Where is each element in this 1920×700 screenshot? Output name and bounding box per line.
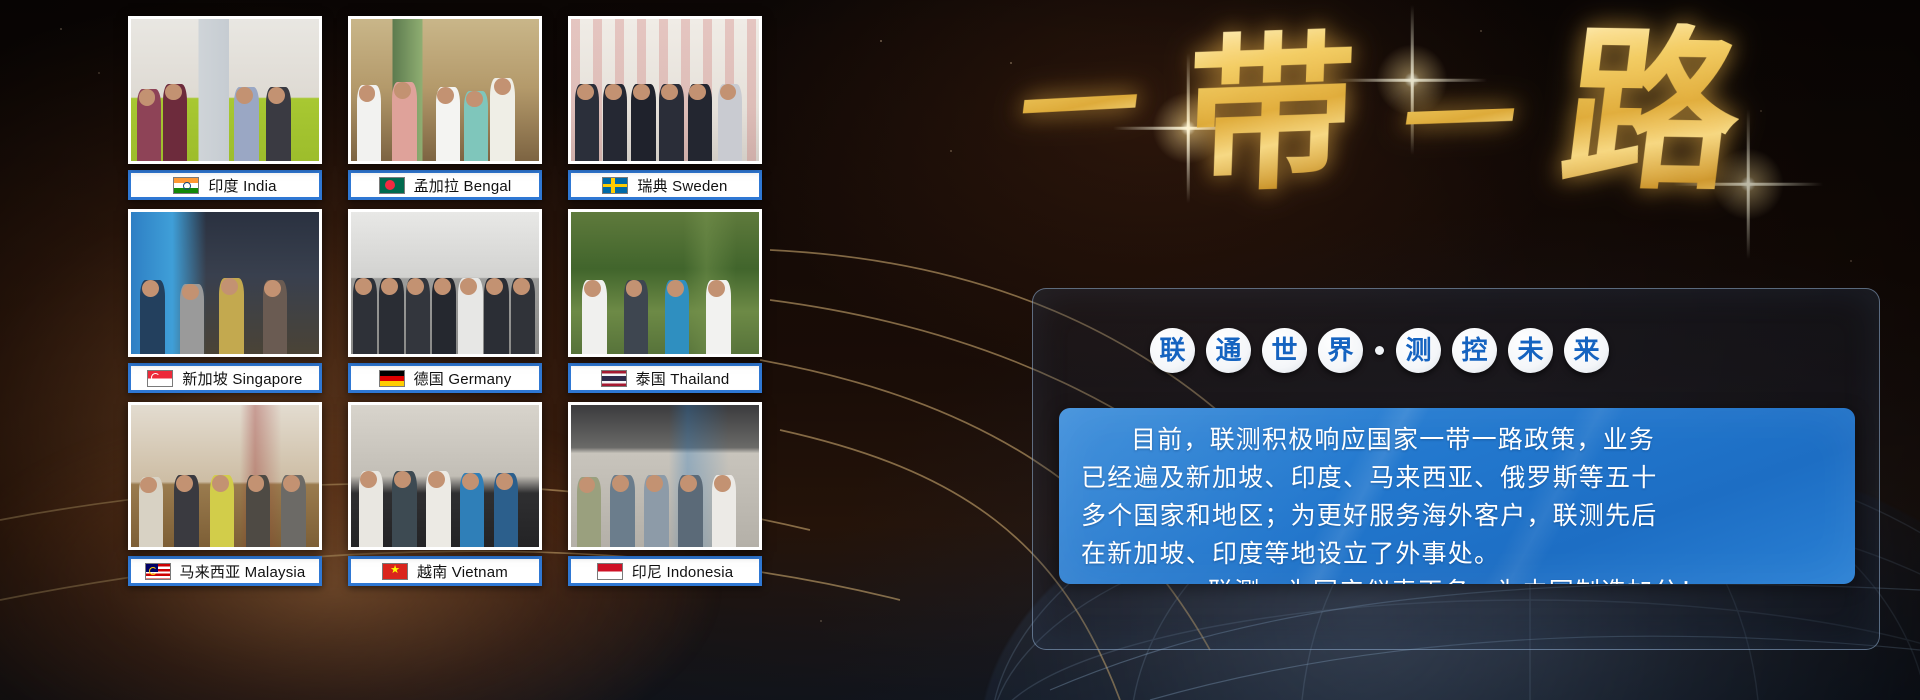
headline-char-2: 带 [1184,27,1358,201]
flag-germany-icon [379,370,405,387]
flag-thailand-icon [601,370,627,387]
gallery-card-sweden[interactable]: 瑞典 Sweden [568,16,762,202]
photo-singapore [128,209,322,357]
description-line-4: 在新加坡、印度等地设立了外事处。 [1081,535,1833,573]
caption-singapore: 新加坡 Singapore [128,363,322,393]
description-line-3: 多个国家和地区；为更好服务海外客户，联测先后 [1081,497,1833,535]
caption-thailand: 泰国 Thailand [568,363,762,393]
photo-india [128,16,322,164]
gallery-card-vietnam[interactable]: 越南 Vietnam [348,402,542,588]
slogan-char-2: 通 [1206,328,1251,373]
gallery-card-malaysia[interactable]: 马来西亚 Malaysia [128,402,322,588]
gallery-card-germany[interactable]: 德国 Germany [348,209,542,395]
gallery-card-india[interactable]: 印度 India [128,16,322,202]
slogan-badge-row: 联 通 世 界 测 控 未 来 [1150,328,1609,373]
caption-label: 印度 India [208,175,276,196]
caption-label: 印尼 Indonesia [632,561,734,582]
gallery-card-singapore[interactable]: 新加坡 Singapore [128,209,322,395]
flag-india-icon [173,177,199,194]
headline-char-1: 一 [1012,46,1146,170]
headline-char-3: 一 [1395,64,1523,180]
caption-bengal: 孟加拉 Bengal [348,170,542,200]
caption-malaysia: 马来西亚 Malaysia [128,556,322,586]
caption-germany: 德国 Germany [348,363,542,393]
caption-vietnam: 越南 Vietnam [348,556,542,586]
photo-germany [348,209,542,357]
gallery-card-indonesia[interactable]: 印尼 Indonesia [568,402,762,588]
description-line-2: 已经遍及新加坡、印度、马来西亚、俄罗斯等五十 [1081,459,1833,497]
photo-thailand [568,209,762,357]
caption-label: 马来西亚 Malaysia [180,561,306,582]
photo-indonesia [568,402,762,550]
slogan-char-4: 界 [1318,328,1363,373]
caption-label: 越南 Vietnam [417,561,508,582]
slogan-separator-dot [1375,346,1384,355]
flag-indonesia-icon [597,563,623,580]
caption-label: 泰国 Thailand [636,368,730,389]
description-line-5: 联测，为国产仪表正名，为中国制造加分！ [1081,573,1833,584]
gallery-card-bengal[interactable]: 孟加拉 Bengal [348,16,542,202]
flag-malaysia-icon [145,563,171,580]
slogan-char-6: 控 [1452,328,1497,373]
photo-vietnam [348,402,542,550]
caption-label: 新加坡 Singapore [182,368,302,389]
flag-sweden-icon [602,177,628,194]
headline-char-4: 路 [1553,21,1750,200]
slogan-char-7: 未 [1508,328,1553,373]
caption-indonesia: 印尼 Indonesia [568,556,762,586]
slogan-char-3: 世 [1262,328,1307,373]
photo-malaysia [128,402,322,550]
photo-bengal [348,16,542,164]
caption-india: 印度 India [128,170,322,200]
flag-vietnam-icon [382,563,408,580]
flag-singapore-icon [147,370,173,387]
description-box: 目前，联测积极响应国家一带一路政策，业务 已经遍及新加坡、印度、马来西亚、俄罗斯… [1059,408,1855,584]
caption-label: 德国 Germany [414,368,512,389]
gallery-card-thailand[interactable]: 泰国 Thailand [568,209,762,395]
description-line-1: 目前，联测积极响应国家一带一路政策，业务 [1081,421,1833,459]
caption-label: 孟加拉 Bengal [414,175,512,196]
slogan-char-5: 测 [1396,328,1441,373]
country-photo-grid: 印度 India [128,16,762,588]
caption-label: 瑞典 Sweden [637,175,727,196]
caption-sweden: 瑞典 Sweden [568,170,762,200]
slogan-char-1: 联 [1150,328,1195,373]
slogan-char-8: 来 [1564,328,1609,373]
flag-bangladesh-icon [379,177,405,194]
banner-stage: 印度 India [0,0,1920,700]
photo-sweden [568,16,762,164]
headline-calligraphy: 一 带 一 路 [1020,6,1740,211]
